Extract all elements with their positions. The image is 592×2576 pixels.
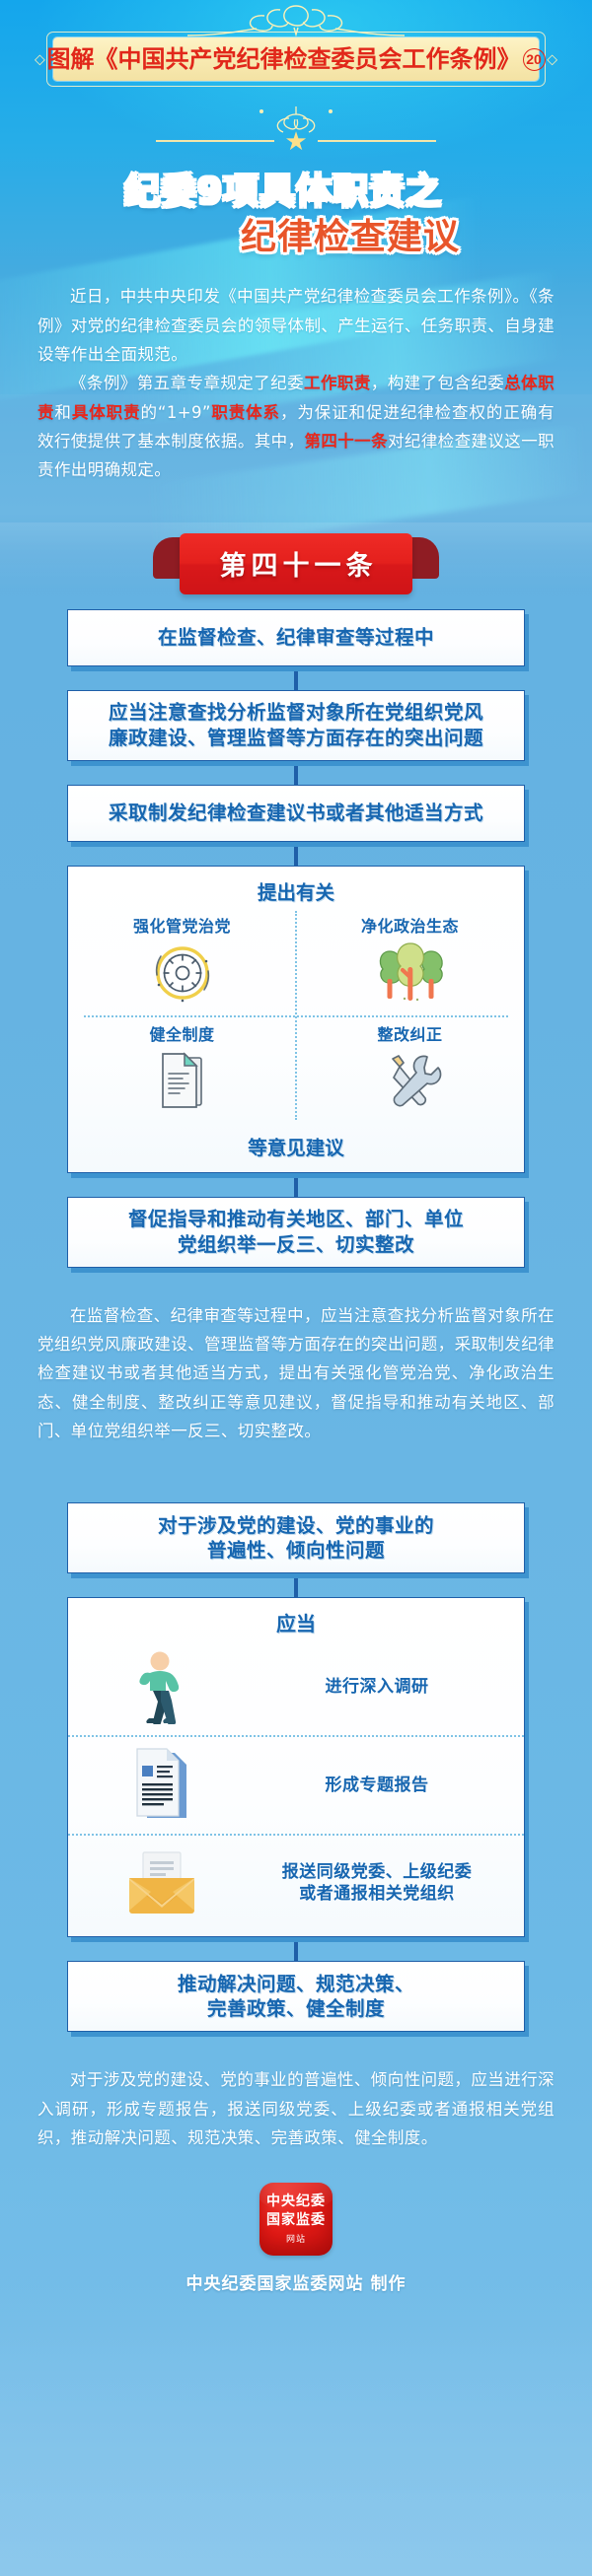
- should-item-text-0: 进行深入调研: [256, 1676, 524, 1699]
- footer: 中央纪委 国家监委 网站 中央纪委国家监委网站 制作: [0, 2153, 592, 2318]
- flow1-suggestions-footer: 等意见建议: [248, 1132, 344, 1160]
- report-document-icon: [68, 1745, 256, 1826]
- divider-line-right: [318, 140, 436, 142]
- summary-paragraph-1: 在监督检查、纪律审查等过程中，应当注意查找分析监督对象所在党组织党风廉政建设、管…: [37, 1301, 555, 1446]
- quad-item-rectify-correct: 整改纠正: [296, 1015, 524, 1124]
- page-title-line1: 纪委9项具体职责之: [0, 170, 592, 215]
- intro-paragraph-1: 近日，中共中央印发《中国共产党纪律检查委员会工作条例》。《条例》对党的纪律检查委…: [37, 282, 555, 369]
- intro-emphasis-5: 第四十一条: [304, 432, 388, 451]
- quad-item-label-3: 整改纠正: [377, 1021, 442, 1045]
- intro-seg-4: 的“1+9”: [140, 403, 210, 422]
- flow1-connector-3: [294, 842, 298, 866]
- flow2-should-heading: 应当: [276, 1608, 316, 1636]
- ccdi-logo-icon: 中央纪委 国家监委 网站: [259, 2183, 333, 2256]
- flow1-step-3: 采取制发纪律检查建议书或者其他适当方式: [67, 785, 525, 842]
- envelope-letter-icon: [68, 1848, 256, 1917]
- flow1-connector-4: [294, 1173, 298, 1197]
- tools-icon: [378, 1049, 443, 1114]
- clause-plate: 第四十一条: [180, 533, 412, 594]
- ribbon-frame: ◇ ◇ 图解《中国共产党纪律检查委员会工作条例》20: [46, 32, 546, 87]
- flow2-step-1: 对于涉及党的建设、党的事业的 普遍性、倾向性问题: [67, 1502, 525, 1573]
- should-item-text-2: 报送同级党委、上级纪委 或者通报相关党组织: [256, 1861, 524, 1907]
- flow2-step-3: 推动解决问题、规范决策、 完善政策、健全制度: [67, 1961, 525, 2032]
- should-item-special-report: 形成专题报告: [68, 1735, 524, 1834]
- trees-icon: [376, 940, 445, 1006]
- logo-line-3: 网站: [286, 2232, 306, 2245]
- star-divider: ★: [0, 118, 592, 164]
- flow1-suggestions-card: 提出有关 强化管党治党: [67, 866, 525, 1173]
- ribbon-tip-left-icon: ◇: [35, 51, 45, 68]
- intro-seg-2: ，构建了包含纪委: [371, 374, 504, 392]
- helm-wheel-icon: [149, 940, 216, 1006]
- flow2-connector-1: [294, 1573, 298, 1597]
- flow2-connector-2: [294, 1937, 298, 1961]
- flow-diagram-1: 在监督检查、纪律审查等过程中 应当注意查找分析监督对象所在党组织党风 廉政建设、…: [0, 609, 592, 1268]
- intro-emphasis-1: 工作职责: [304, 374, 371, 392]
- flow1-connector-1: [294, 666, 298, 690]
- quad-item-label-1: 净化政治生态: [361, 913, 459, 937]
- star-icon: ★: [284, 128, 307, 154]
- quad-item-label-0: 强化管党治党: [133, 913, 231, 937]
- summary-paragraph-2: 对于涉及党的建设、党的事业的普遍性、倾向性问题，应当进行深入调研，形成专题报告，…: [37, 2065, 555, 2152]
- intro-emphasis-4: 职责体系: [211, 403, 280, 422]
- background-bottom-glow: [0, 2280, 592, 2576]
- page-title-line2: 纪律检查建议: [0, 215, 592, 260]
- flow1-step-1: 在监督检查、纪律审查等过程中: [67, 609, 525, 666]
- flow1-step-1-text: 在监督检查、纪律审查等过程中: [158, 625, 434, 651]
- quad-item-purify-political-ecology: 净化政治生态: [296, 907, 524, 1015]
- document-icon: [152, 1049, 213, 1114]
- flow1-connector-2: [294, 761, 298, 785]
- page-title: 纪委9项具体职责之 纪律检查建议: [0, 164, 592, 270]
- ribbon-title-text: 图解《中国共产党纪律检查委员会工作条例》: [47, 44, 521, 73]
- flow1-suggestions-heading: 提出有关: [258, 876, 334, 905]
- logo-line-2: 国家监委: [266, 2211, 326, 2229]
- should-item-deep-research: 进行深入调研: [68, 1638, 524, 1735]
- intro-emphasis-3: 具体职责: [72, 403, 141, 422]
- ribbon-issue-number: 20: [523, 48, 546, 71]
- flow1-step-5-text: 督促指导和推动有关地区、部门、单位 党组织举一反三、切实整改: [128, 1207, 464, 1257]
- should-item-submit-report: 报送同级党委、上级纪委 或者通报相关党组织: [68, 1834, 524, 1930]
- flow2-should-card: 应当 进行深入调研: [67, 1597, 525, 1937]
- flow1-step-5: 督促指导和推动有关地区、部门、单位 党组织举一反三、切实整改: [67, 1197, 525, 1268]
- flow1-step-2: 应当注意查找分析监督对象所在党组织党风 廉政建设、管理监督等方面存在的突出问题: [67, 690, 525, 761]
- clause-banner: 第四十一条: [0, 519, 592, 609]
- logo-line-1: 中央纪委: [266, 2193, 326, 2210]
- should-item-text-1: 形成专题报告: [256, 1775, 524, 1797]
- intro-seg-1: 《条例》第五章专章规定了纪委: [70, 374, 304, 392]
- footer-caption: 中央纪委国家监委网站 制作: [186, 2269, 407, 2294]
- header-ribbon: ◇ ◇ 图解《中国共产党纪律检查委员会工作条例》20: [0, 0, 592, 118]
- flow1-step-2-text: 应当注意查找分析监督对象所在党组织党风 廉政建设、管理监督等方面存在的突出问题: [109, 700, 483, 750]
- flow1-step-3-text: 采取制发纪律检查建议书或者其他适当方式: [109, 801, 483, 826]
- flow2-step-3-text: 推动解决问题、规范决策、 完善政策、健全制度: [178, 1972, 414, 2022]
- divider-line-left: [156, 140, 274, 142]
- ribbon-tip-right-icon: ◇: [547, 51, 557, 68]
- quad-item-label-2: 健全制度: [149, 1021, 214, 1045]
- intro-paragraph-2: 《条例》第五章专章规定了纪委工作职责，构建了包含纪委总体职责和具体职责的“1+9…: [37, 369, 555, 484]
- ribbon-title: 图解《中国共产党纪律检查委员会工作条例》20: [47, 47, 546, 71]
- quad-item-improve-system: 健全制度: [68, 1015, 296, 1124]
- quad-item-strengthen-party-governance: 强化管党治党: [68, 907, 296, 1015]
- flow2-step-1-text: 对于涉及党的建设、党的事业的 普遍性、倾向性问题: [158, 1513, 434, 1564]
- clause-label: 第四十一条: [215, 544, 378, 583]
- infographic-page: ◇ ◇ 图解《中国共产党纪律检查委员会工作条例》20 ★ 纪委9项具体职责之 纪…: [0, 0, 592, 2318]
- flow-diagram-2: 对于涉及党的建设、党的事业的 普遍性、倾向性问题 应当 进行深入调研: [0, 1502, 592, 2032]
- intro-seg-3: 和: [54, 403, 71, 422]
- ribbon-plate: 图解《中国共产党纪律检查委员会工作条例》20: [53, 37, 539, 81]
- flow1-suggestions-grid: 强化管党治党: [68, 907, 524, 1124]
- walking-person-icon: [68, 1649, 256, 1724]
